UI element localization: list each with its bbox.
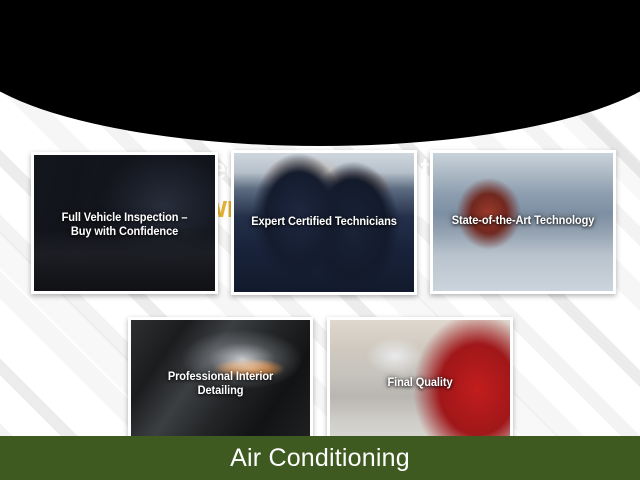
feature-card-caption: Professional Interior Detailing xyxy=(135,370,307,398)
caption-line-2: Detailing xyxy=(198,385,244,397)
feature-card-caption: State-of-the-Art Technology xyxy=(437,214,610,228)
feature-card-caption: Expert Certified Technicians xyxy=(238,215,411,229)
caption-line-1: Full Vehicle Inspection – xyxy=(62,212,188,224)
feature-card-caption: Final Quality xyxy=(334,376,507,390)
footer-banner: Air Conditioning xyxy=(0,436,640,480)
promo-slide: See what goes into every Pre-Owned Recon… xyxy=(0,0,640,480)
feature-card-final-quality[interactable]: Final Quality xyxy=(327,317,513,443)
caption-line-1: State-of-the-Art Technology xyxy=(452,215,595,227)
header-banner xyxy=(0,0,640,146)
caption-line-1: Expert Certified Technicians xyxy=(251,216,397,228)
footer-label: Air Conditioning xyxy=(0,436,640,480)
caption-line-2: Buy with Confidence xyxy=(71,226,178,238)
feature-card-professional-interior-detailing[interactable]: Professional Interior Detailing xyxy=(128,317,313,439)
caption-line-1: Professional Interior xyxy=(168,371,273,383)
feature-card-expert-certified-technicians[interactable]: Expert Certified Technicians xyxy=(231,150,417,295)
feature-card-caption: Full Vehicle Inspection – Buy with Confi… xyxy=(38,211,212,239)
feature-card-full-vehicle-inspection[interactable]: Full Vehicle Inspection – Buy with Confi… xyxy=(31,152,218,294)
caption-line-1: Final Quality xyxy=(387,377,452,389)
feature-card-state-of-the-art-technology[interactable]: State-of-the-Art Technology xyxy=(430,150,616,294)
